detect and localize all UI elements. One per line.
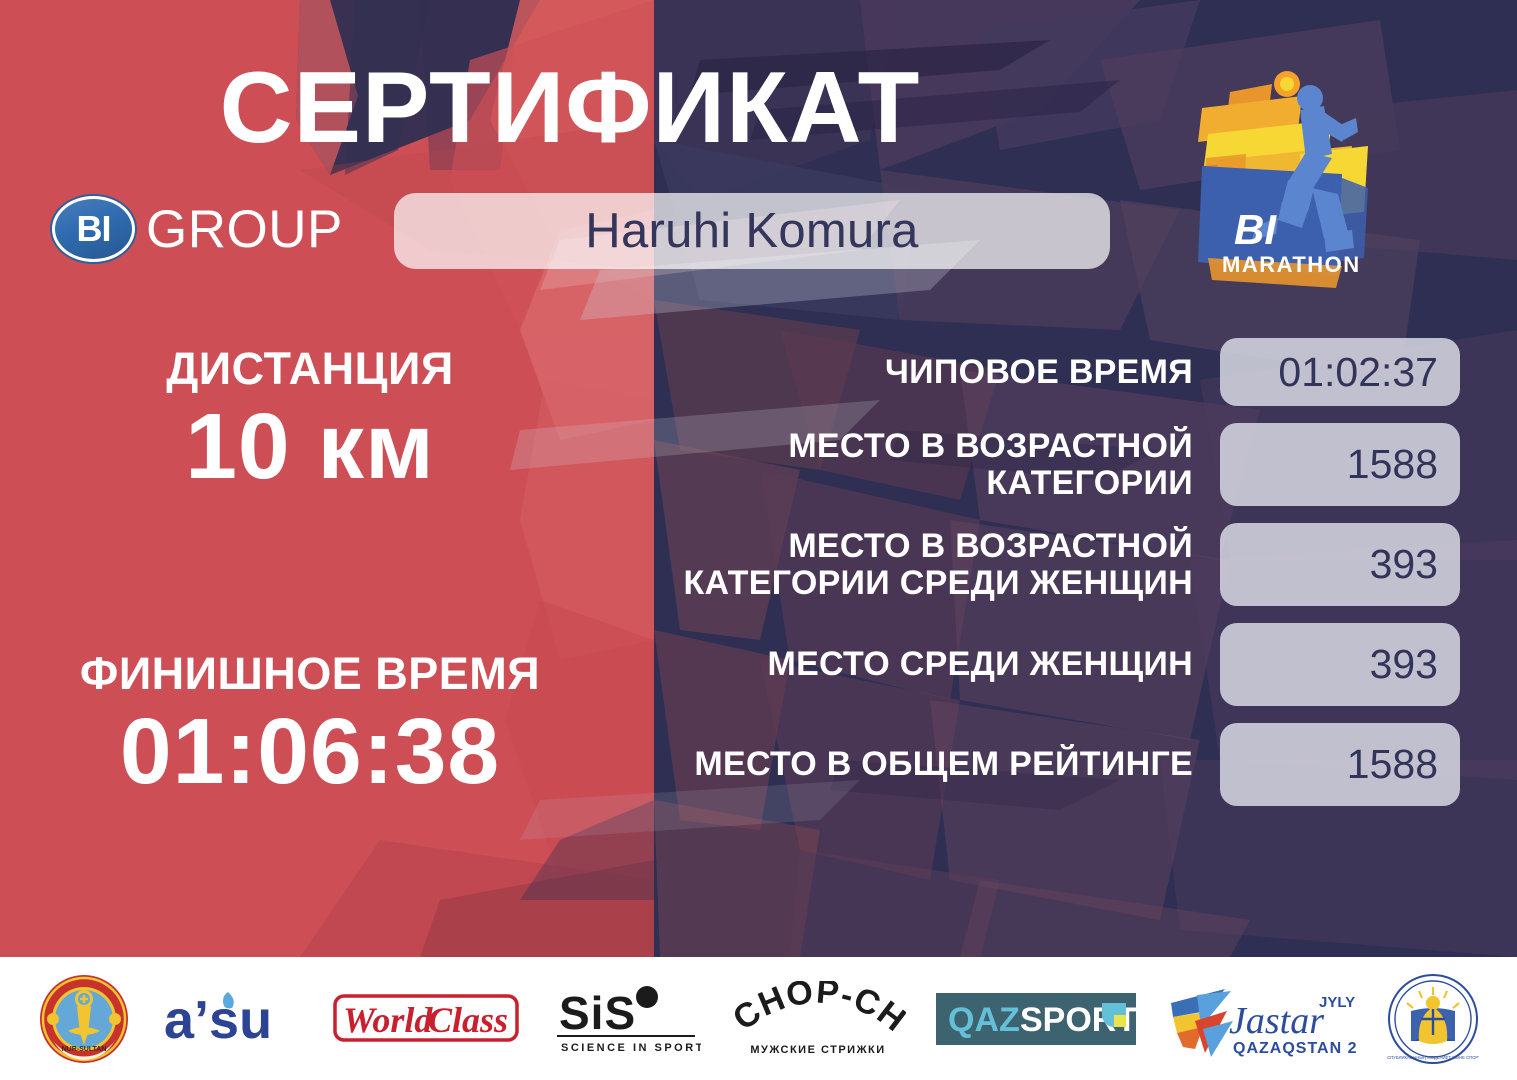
- result-row-chip-time: ЧИПОВОЕ ВРЕМЯ 01:02:37: [500, 338, 1460, 406]
- sis-runner-icon: [636, 986, 658, 1008]
- result-value-box: 01:02:37: [1220, 338, 1460, 406]
- result-value: 393: [1370, 641, 1438, 688]
- result-row-age-category: МЕСТО В ВОЗРАСТНОЙ КАТЕГОРИИ 1588: [500, 423, 1460, 506]
- result-label: МЕСТО В ВОЗРАСТНОЙ КАТЕГОРИИ: [573, 428, 1220, 501]
- distance-block: ДИСТАНЦИЯ 10 км: [60, 345, 560, 496]
- result-value-box: 393: [1220, 623, 1460, 706]
- marathon-logo-word: MARATHON: [1222, 252, 1361, 277]
- jastar-label-2: JYLY: [1319, 994, 1355, 1011]
- sponsor-asu: aʼsu: [160, 973, 300, 1065]
- result-row-women: МЕСТО СРЕДИ ЖЕНЩИН 393: [500, 623, 1460, 706]
- sponsor-footer: NUR-SULTAN aʼsu World Class SiS SC: [0, 957, 1517, 1080]
- sponsor-ministry-seal: ҚАЗАҚСТАН РЕСПУБЛИКАСЫНЫҢ МӘДЕНИЕТ ЖӘНЕ …: [1387, 973, 1479, 1065]
- bi-group-logo: BI GROUP: [52, 196, 343, 262]
- jastar-label-3: QAZAQSTAN 2019: [1233, 1040, 1357, 1057]
- finish-time-block: ФИНИШНОЕ ВРЕМЯ 01:06:38: [60, 650, 560, 801]
- result-value: 1588: [1347, 741, 1438, 788]
- sponsor-sis: SiS SCIENCE IN SPORT: [551, 973, 701, 1065]
- sponsor-qazsport: QAZ SPORT: [936, 973, 1136, 1065]
- bi-group-word: GROUP: [146, 199, 343, 260]
- qazsport-label-1: QAZ: [948, 1001, 1020, 1039]
- result-value-box: 1588: [1220, 723, 1460, 806]
- result-row-overall: МЕСТО В ОБЩЕМ РЕЙТИНГЕ 1588: [500, 723, 1460, 806]
- nur-sultan-label: NUR-SULTAN: [62, 1046, 107, 1053]
- result-value: 393: [1370, 541, 1438, 588]
- ministry-seal-label: ҚАЗАҚСТАН РЕСПУБЛИКАСЫНЫҢ МӘДЕНИЕТ ЖӘНЕ …: [1387, 1055, 1479, 1060]
- sis-label-1: SiS: [559, 987, 636, 1039]
- asu-label: aʼsu: [164, 990, 272, 1050]
- jastar-mark-icon: [1171, 989, 1233, 1057]
- sis-label-2: SCIENCE IN SPORT: [561, 1042, 701, 1054]
- chop-chop-label-1: CHOP-CHOP: [731, 981, 906, 1040]
- sponsor-chop-chop: CHOP-CHOP МУЖСКИЕ СТРИЖКИ: [731, 973, 906, 1065]
- sponsor-jastar-jyly: Jastar JYLY QAZAQSTAN 2019: [1167, 973, 1357, 1065]
- chop-chop-label-2: МУЖСКИЕ СТРИЖКИ: [750, 1044, 885, 1056]
- result-row-age-category-women: МЕСТО В ВОЗРАСТНОЙ КАТЕГОРИИ СРЕДИ ЖЕНЩИ…: [500, 523, 1460, 606]
- result-label: МЕСТО В ВОЗРАСТНОЙ КАТЕГОРИИ СРЕДИ ЖЕНЩИ…: [573, 528, 1220, 601]
- result-value: 01:02:37: [1278, 349, 1438, 396]
- bi-logo-text: BI: [77, 211, 111, 247]
- distance-label: ДИСТАНЦИЯ: [60, 345, 560, 392]
- result-label: ЧИПОВОЕ ВРЕМЯ: [885, 354, 1220, 391]
- bi-marathon-logo: BI MARATHON: [1182, 62, 1382, 292]
- result-label: МЕСТО СРЕДИ ЖЕНЩИН: [767, 646, 1220, 683]
- marathon-logo-bi: BI: [1234, 206, 1277, 253]
- sponsor-nur-sultan: NUR-SULTAN: [38, 973, 130, 1065]
- sponsor-world-class: World Class: [331, 973, 521, 1065]
- participant-name-box: Haruhi Komura: [394, 193, 1110, 269]
- result-value-box: 393: [1220, 523, 1460, 606]
- finish-time-label: ФИНИШНОЕ ВРЕМЯ: [60, 650, 560, 697]
- bi-logo-icon: BI: [52, 196, 135, 262]
- result-value-box: 1588: [1220, 423, 1460, 506]
- page-title: СЕРТИФИКАТ: [0, 58, 1140, 159]
- certificate-canvas: СЕРТИФИКАТ BI GROUP Haruhi Komura: [0, 0, 1517, 1080]
- world-class-label-2: Class: [428, 1000, 508, 1040]
- result-label: МЕСТО В ОБЩЕМ РЕЙТИНГЕ: [694, 746, 1220, 783]
- result-value: 1588: [1347, 441, 1438, 488]
- distance-value: 10 км: [60, 398, 560, 496]
- jastar-label-1: Jastar: [1229, 1000, 1324, 1042]
- world-class-label-1: World: [343, 1000, 433, 1040]
- finish-time-value: 01:06:38: [60, 703, 560, 801]
- results-list: ЧИПОВОЕ ВРЕМЯ 01:02:37 МЕСТО В ВОЗРАСТНО…: [500, 338, 1460, 823]
- participant-name: Haruhi Komura: [585, 203, 918, 259]
